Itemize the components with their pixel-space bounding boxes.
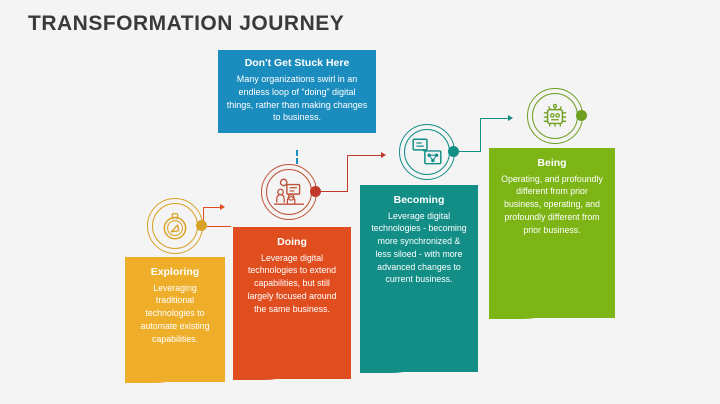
page-title: TRANSFORMATION JOURNEY (28, 12, 344, 36)
stage-card-exploring[interactable]: Exploring Leveraging traditional technol… (125, 257, 225, 382)
ribbon-wave-bottom (233, 346, 351, 380)
callout-heading: Don't Get Stuck Here (226, 57, 368, 70)
connected-screens-icon (410, 135, 444, 169)
ribbon-wave-bottom (360, 339, 478, 373)
stage-card-becoming[interactable]: Becoming Leverage digital technologies -… (360, 185, 478, 372)
stage-card-doing[interactable]: Doing Leverage digital technologies to e… (233, 227, 351, 379)
stage-body: Leverage digital technologies - becoming… (370, 210, 468, 287)
stage-heading: Doing (243, 236, 341, 249)
slide-canvas: TRANSFORMATION JOURNEY Don't Get Stuck H… (0, 0, 720, 404)
node-dot (310, 186, 321, 197)
stage-body: Leverage digital technologies to extend … (243, 252, 341, 316)
stage-body: Operating, and profoundly different from… (499, 173, 605, 237)
ribbon-wave-bottom (489, 285, 615, 319)
stage-heading: Being (499, 157, 605, 170)
stage-icon-becoming (399, 124, 455, 180)
stage-card-being[interactable]: Being Operating, and profoundly differen… (489, 148, 615, 318)
callout-body: Many organizations swirl in an endless l… (226, 73, 368, 124)
stage-heading: Exploring (135, 266, 215, 279)
stage-icon-exploring (147, 198, 203, 254)
node-dot (448, 146, 459, 157)
node-dot (196, 220, 207, 231)
stage-heading: Becoming (370, 194, 468, 207)
ribbon-wave-bottom (125, 349, 225, 383)
robot-icon (538, 99, 572, 133)
callout-box: Don't Get Stuck Here Many organizations … (218, 50, 376, 133)
stage-icon-being (527, 88, 583, 144)
presentation-team-icon (272, 175, 306, 209)
compass-icon (158, 209, 192, 243)
node-dot (576, 110, 587, 121)
stage-body: Leveraging traditional technologies to a… (135, 282, 215, 346)
stage-icon-doing (261, 164, 317, 220)
